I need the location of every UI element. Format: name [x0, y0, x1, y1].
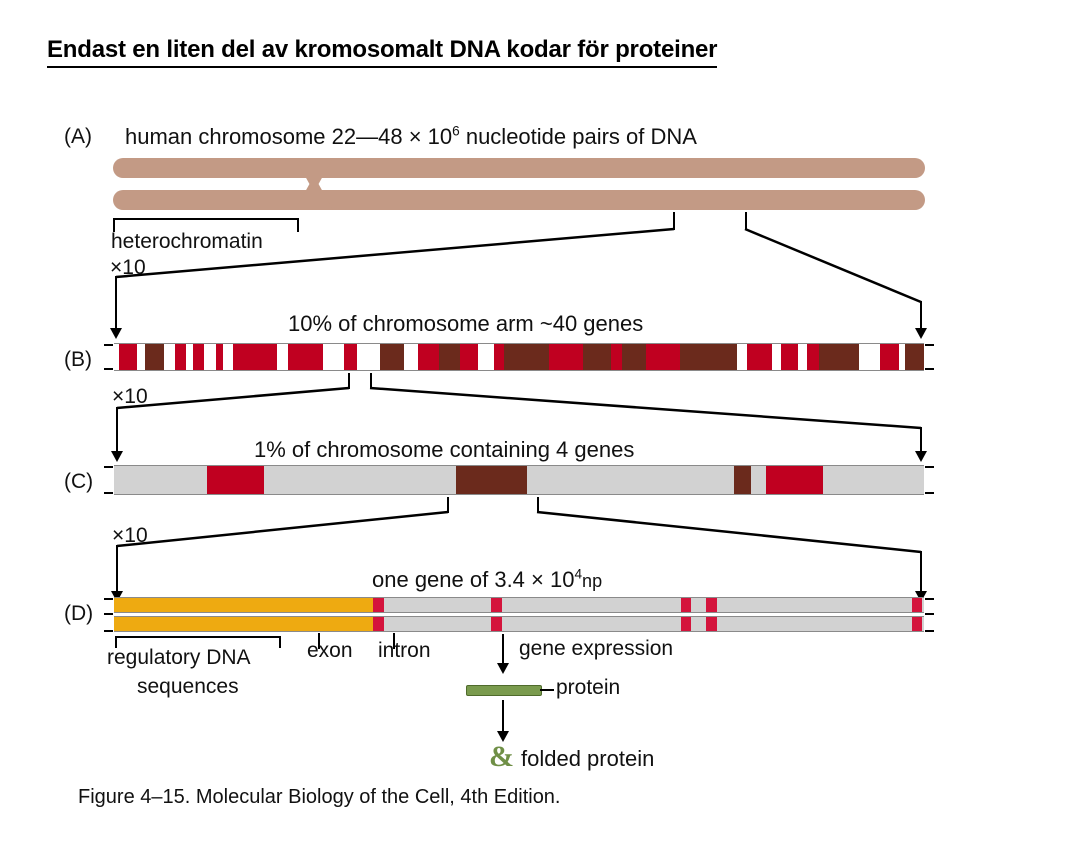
exon-segment [912, 598, 923, 612]
exon-segment [681, 617, 691, 631]
gene-strand-top [114, 597, 924, 613]
gene-expression-arrow-stem [502, 634, 504, 664]
regulatory-dna-region [114, 598, 373, 612]
connector-lines-c-d [0, 0, 1072, 844]
exon-segment [373, 598, 384, 612]
exon-segment [706, 598, 717, 612]
regulatory-bracket-top [115, 636, 281, 638]
exon-segment [681, 598, 691, 612]
gene-expression-arrow-head [497, 663, 509, 674]
protein-bar [466, 685, 542, 696]
figure-caption: Figure 4–15. Molecular Biology of the Ce… [78, 786, 561, 809]
exon-label: exon [307, 639, 353, 663]
arrow-c-d-right-stem [920, 551, 922, 592]
gene-expression-label: gene expression [519, 637, 673, 661]
regulatory-dna-label-line2: sequences [137, 675, 239, 699]
protein-label: protein [556, 676, 620, 700]
folded-protein-label: folded protein [521, 746, 654, 772]
exon-segment [373, 617, 384, 631]
panel-d-tag: (D) [64, 602, 93, 626]
row-d-right-dashes [925, 598, 935, 632]
gene-strand-bottom [114, 616, 924, 632]
panel-d-heading-post: np [582, 571, 602, 591]
exon-segment [491, 617, 502, 631]
protein-leader-line [540, 689, 554, 691]
intron-label: intron [378, 639, 431, 663]
panel-d-heading-pre: one gene of 3.4 × 10 [372, 567, 574, 592]
folding-arrow-stem [502, 700, 504, 732]
panel-d-heading-exponent: 4 [574, 567, 582, 582]
regulatory-dna-region [114, 617, 373, 631]
arrow-c-d-left-stem [116, 545, 118, 592]
folded-protein-icon: & [489, 740, 514, 774]
exon-segment [706, 617, 717, 631]
panel-d-heading: one gene of 3.4 × 104np [372, 567, 602, 593]
regulatory-dna-label-line1: regulatory DNA [107, 646, 251, 670]
regulatory-bracket-right [279, 636, 281, 648]
exon-segment [491, 598, 502, 612]
figure-page: Endast en liten del av kromosomalt DNA k… [0, 0, 1072, 844]
exon-segment [912, 617, 923, 631]
row-d-left-dashes [104, 598, 114, 632]
